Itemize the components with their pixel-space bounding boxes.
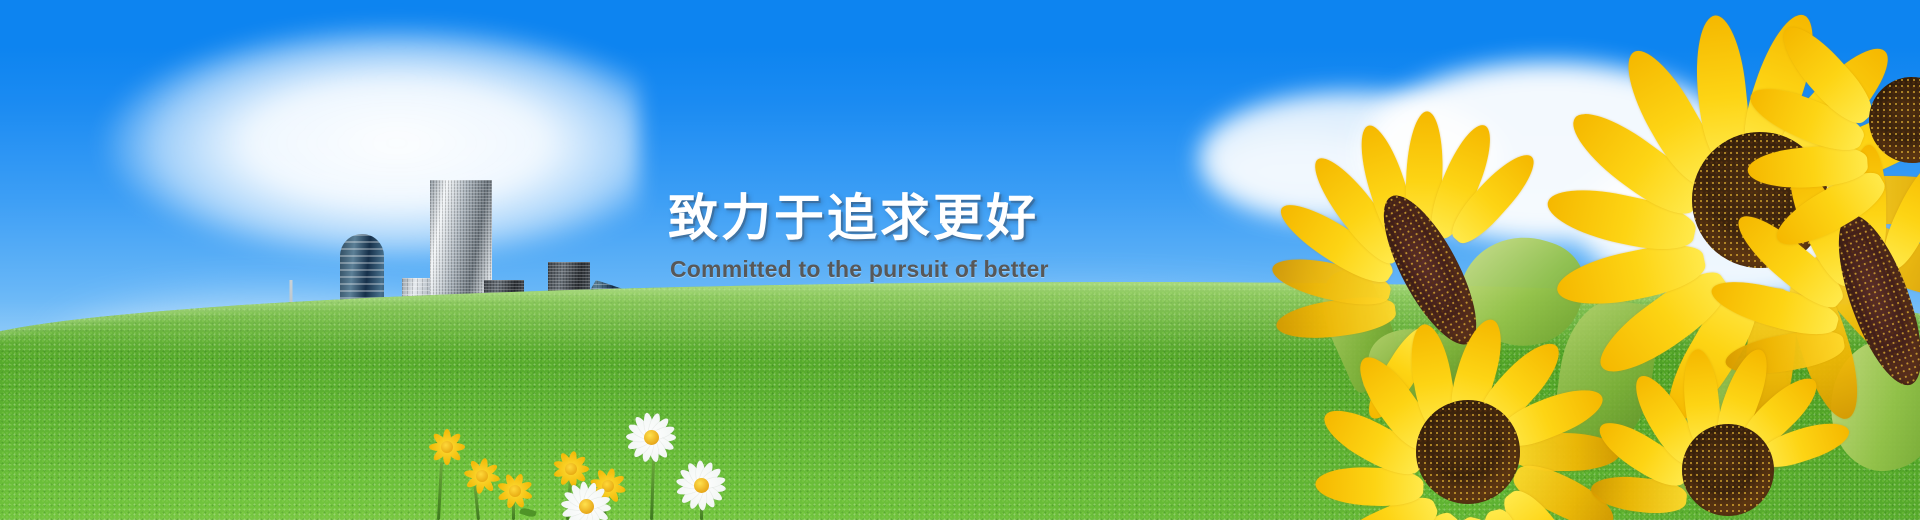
page-subtitle: Committed to the pursuit of better bbox=[670, 256, 1049, 283]
hero-banner: 致力于追求更好 Committed to the pursuit of bett… bbox=[0, 0, 1920, 520]
daisy-flower bbox=[556, 476, 616, 520]
dandelion-flower bbox=[498, 474, 532, 508]
daisy-flower bbox=[668, 452, 734, 518]
page-title: 致力于追求更好 bbox=[668, 190, 1049, 246]
dandelion-flower bbox=[466, 460, 498, 492]
banner-copy: 致力于追求更好 Committed to the pursuit of bett… bbox=[668, 190, 1049, 283]
dandelion-flower bbox=[430, 430, 464, 464]
